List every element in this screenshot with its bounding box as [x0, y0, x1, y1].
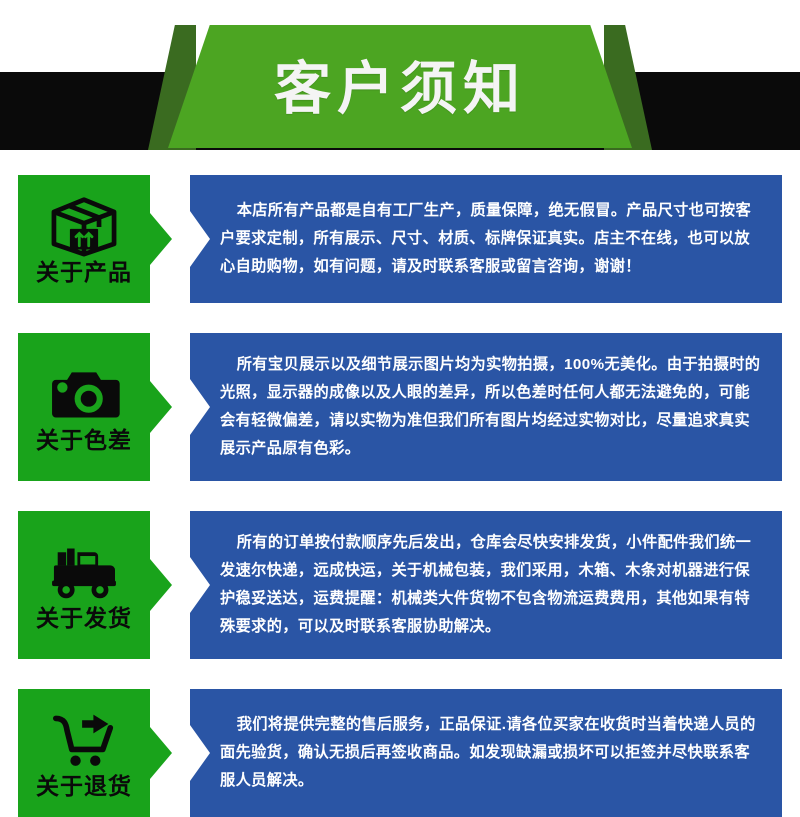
- notice-row-return: 关于退货 我们将提供完整的售后服务，正品保证.请各位买家在收货时当着快递人员的面…: [0, 689, 800, 817]
- panel-return: 我们将提供完整的售后服务，正品保证.请各位买家在收货时当着快递人员的面先验货，确…: [190, 689, 782, 817]
- panel-text-product: 本店所有产品都是自有工厂生产，质量保障，绝无假冒。产品尺寸也可按客户要求定制，所…: [220, 197, 764, 281]
- panel-text-return: 我们将提供完整的售后服务，正品保证.请各位买家在收货时当着快递人员的面先验货，确…: [220, 711, 764, 795]
- panel-shipping: 所有的订单按付款顺序先后发出，仓库会尽快安排发货，小件配件我们统一发速尔快递，远…: [190, 511, 782, 659]
- label-text-return: 关于退货: [36, 775, 132, 798]
- panel-notch-shipping: [190, 557, 210, 613]
- label-text-color: 关于色差: [36, 429, 132, 452]
- notice-sections: 关于产品 本店所有产品都是自有工厂生产，质量保障，绝无假冒。产品尺寸也可按客户要…: [0, 175, 800, 817]
- label-card-return[interactable]: 关于退货: [18, 689, 150, 817]
- panel-product: 本店所有产品都是自有工厂生产，质量保障，绝无假冒。产品尺寸也可按客户要求定制，所…: [190, 175, 782, 303]
- arrow-tip-return: [150, 727, 172, 779]
- arrow-tip-color: [150, 381, 172, 433]
- panel-notch-product: [190, 211, 210, 267]
- label-card-color[interactable]: 关于色差: [18, 333, 150, 481]
- panel-text-color: 所有宝贝展示以及细节展示图片均为实物拍摄，100%无美化。由于拍摄时的光照，显示…: [220, 351, 764, 464]
- camera-icon: [46, 363, 122, 425]
- notice-row-color: 关于色差 所有宝贝展示以及细节展示图片均为实物拍摄，100%无美化。由于拍摄时的…: [0, 333, 800, 481]
- label-text-shipping: 关于发货: [36, 607, 132, 630]
- label-card-shipping[interactable]: 关于发货: [18, 511, 150, 659]
- page-header: 客户须知: [0, 0, 800, 175]
- header-ribbon: 客户须知: [168, 25, 632, 148]
- return-cart-icon: [46, 709, 122, 771]
- notice-row-shipping: 关于发货 所有的订单按付款顺序先后发出，仓库会尽快安排发货，小件配件我们统一发速…: [0, 511, 800, 659]
- package-box-icon: [46, 195, 122, 257]
- label-text-product: 关于产品: [36, 261, 132, 284]
- panel-color: 所有宝贝展示以及细节展示图片均为实物拍摄，100%无美化。由于拍摄时的光照，显示…: [190, 333, 782, 481]
- page-title: 客户须知: [274, 61, 526, 118]
- panel-notch-color: [190, 379, 210, 435]
- panel-notch-return: [190, 725, 210, 781]
- label-card-product[interactable]: 关于产品: [18, 175, 150, 303]
- notice-row-product: 关于产品 本店所有产品都是自有工厂生产，质量保障，绝无假冒。产品尺寸也可按客户要…: [0, 175, 800, 303]
- panel-text-shipping: 所有的订单按付款顺序先后发出，仓库会尽快安排发货，小件配件我们统一发速尔快递，远…: [220, 529, 764, 642]
- arrow-tip-product: [150, 213, 172, 265]
- forklift-truck-icon: [46, 541, 122, 603]
- arrow-tip-shipping: [150, 559, 172, 611]
